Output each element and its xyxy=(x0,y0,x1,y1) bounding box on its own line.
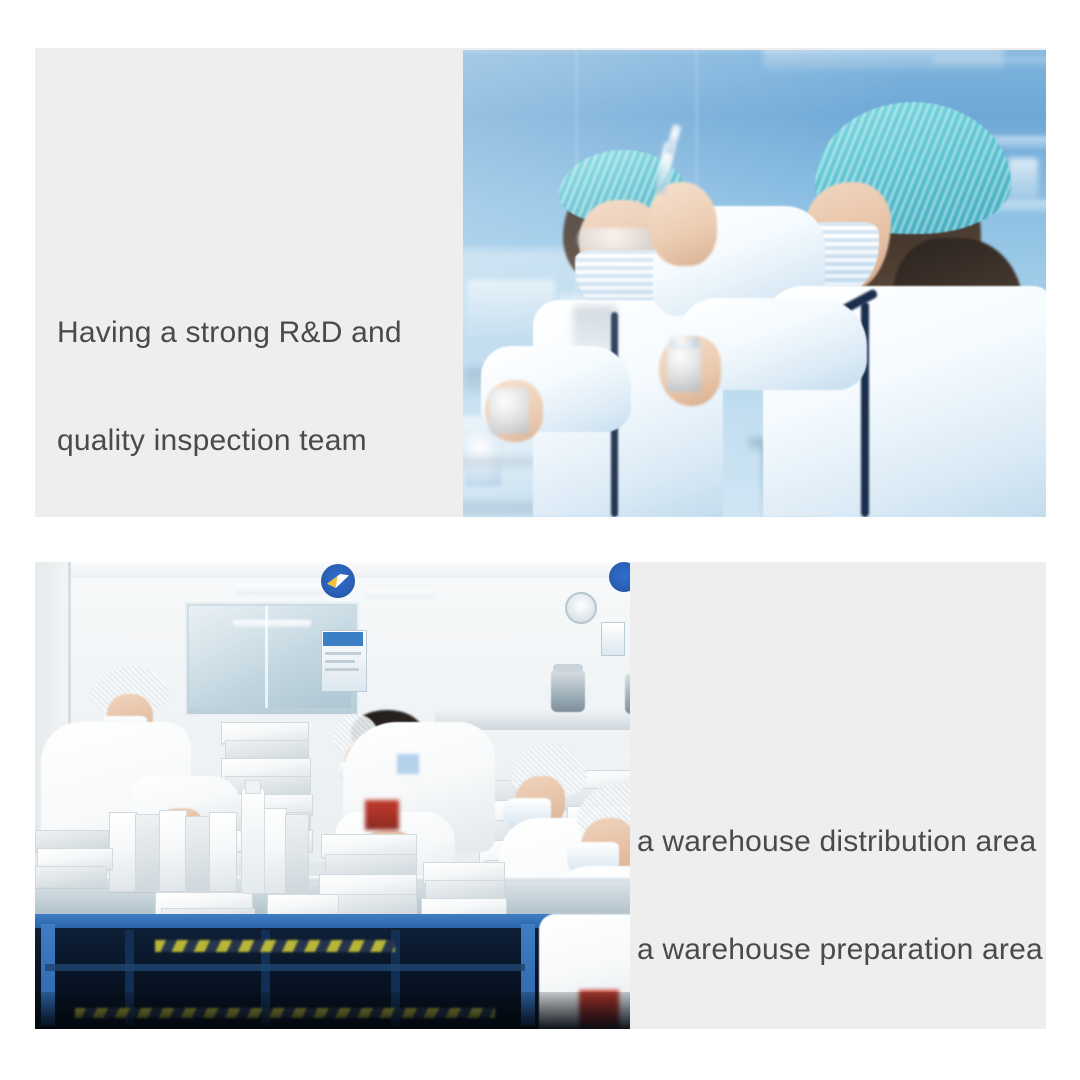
bottom-caption-line-2: a warehouse preparation area xyxy=(637,932,1043,968)
page-canvas: Having a strong R&D and quality inspecti… xyxy=(0,0,1080,1080)
lab-inspection-photo xyxy=(463,50,1046,517)
bottom-caption-line-1: a warehouse distribution area xyxy=(637,824,1043,860)
warehouse-packing-photo xyxy=(35,562,630,1029)
top-caption-line-1: Having a strong R&D and xyxy=(57,315,402,351)
top-caption-line-2: quality inspection team xyxy=(57,423,402,459)
bottom-caption: a warehouse distribution area a warehous… xyxy=(637,752,1043,1040)
top-caption: Having a strong R&D and quality inspecti… xyxy=(57,243,402,531)
